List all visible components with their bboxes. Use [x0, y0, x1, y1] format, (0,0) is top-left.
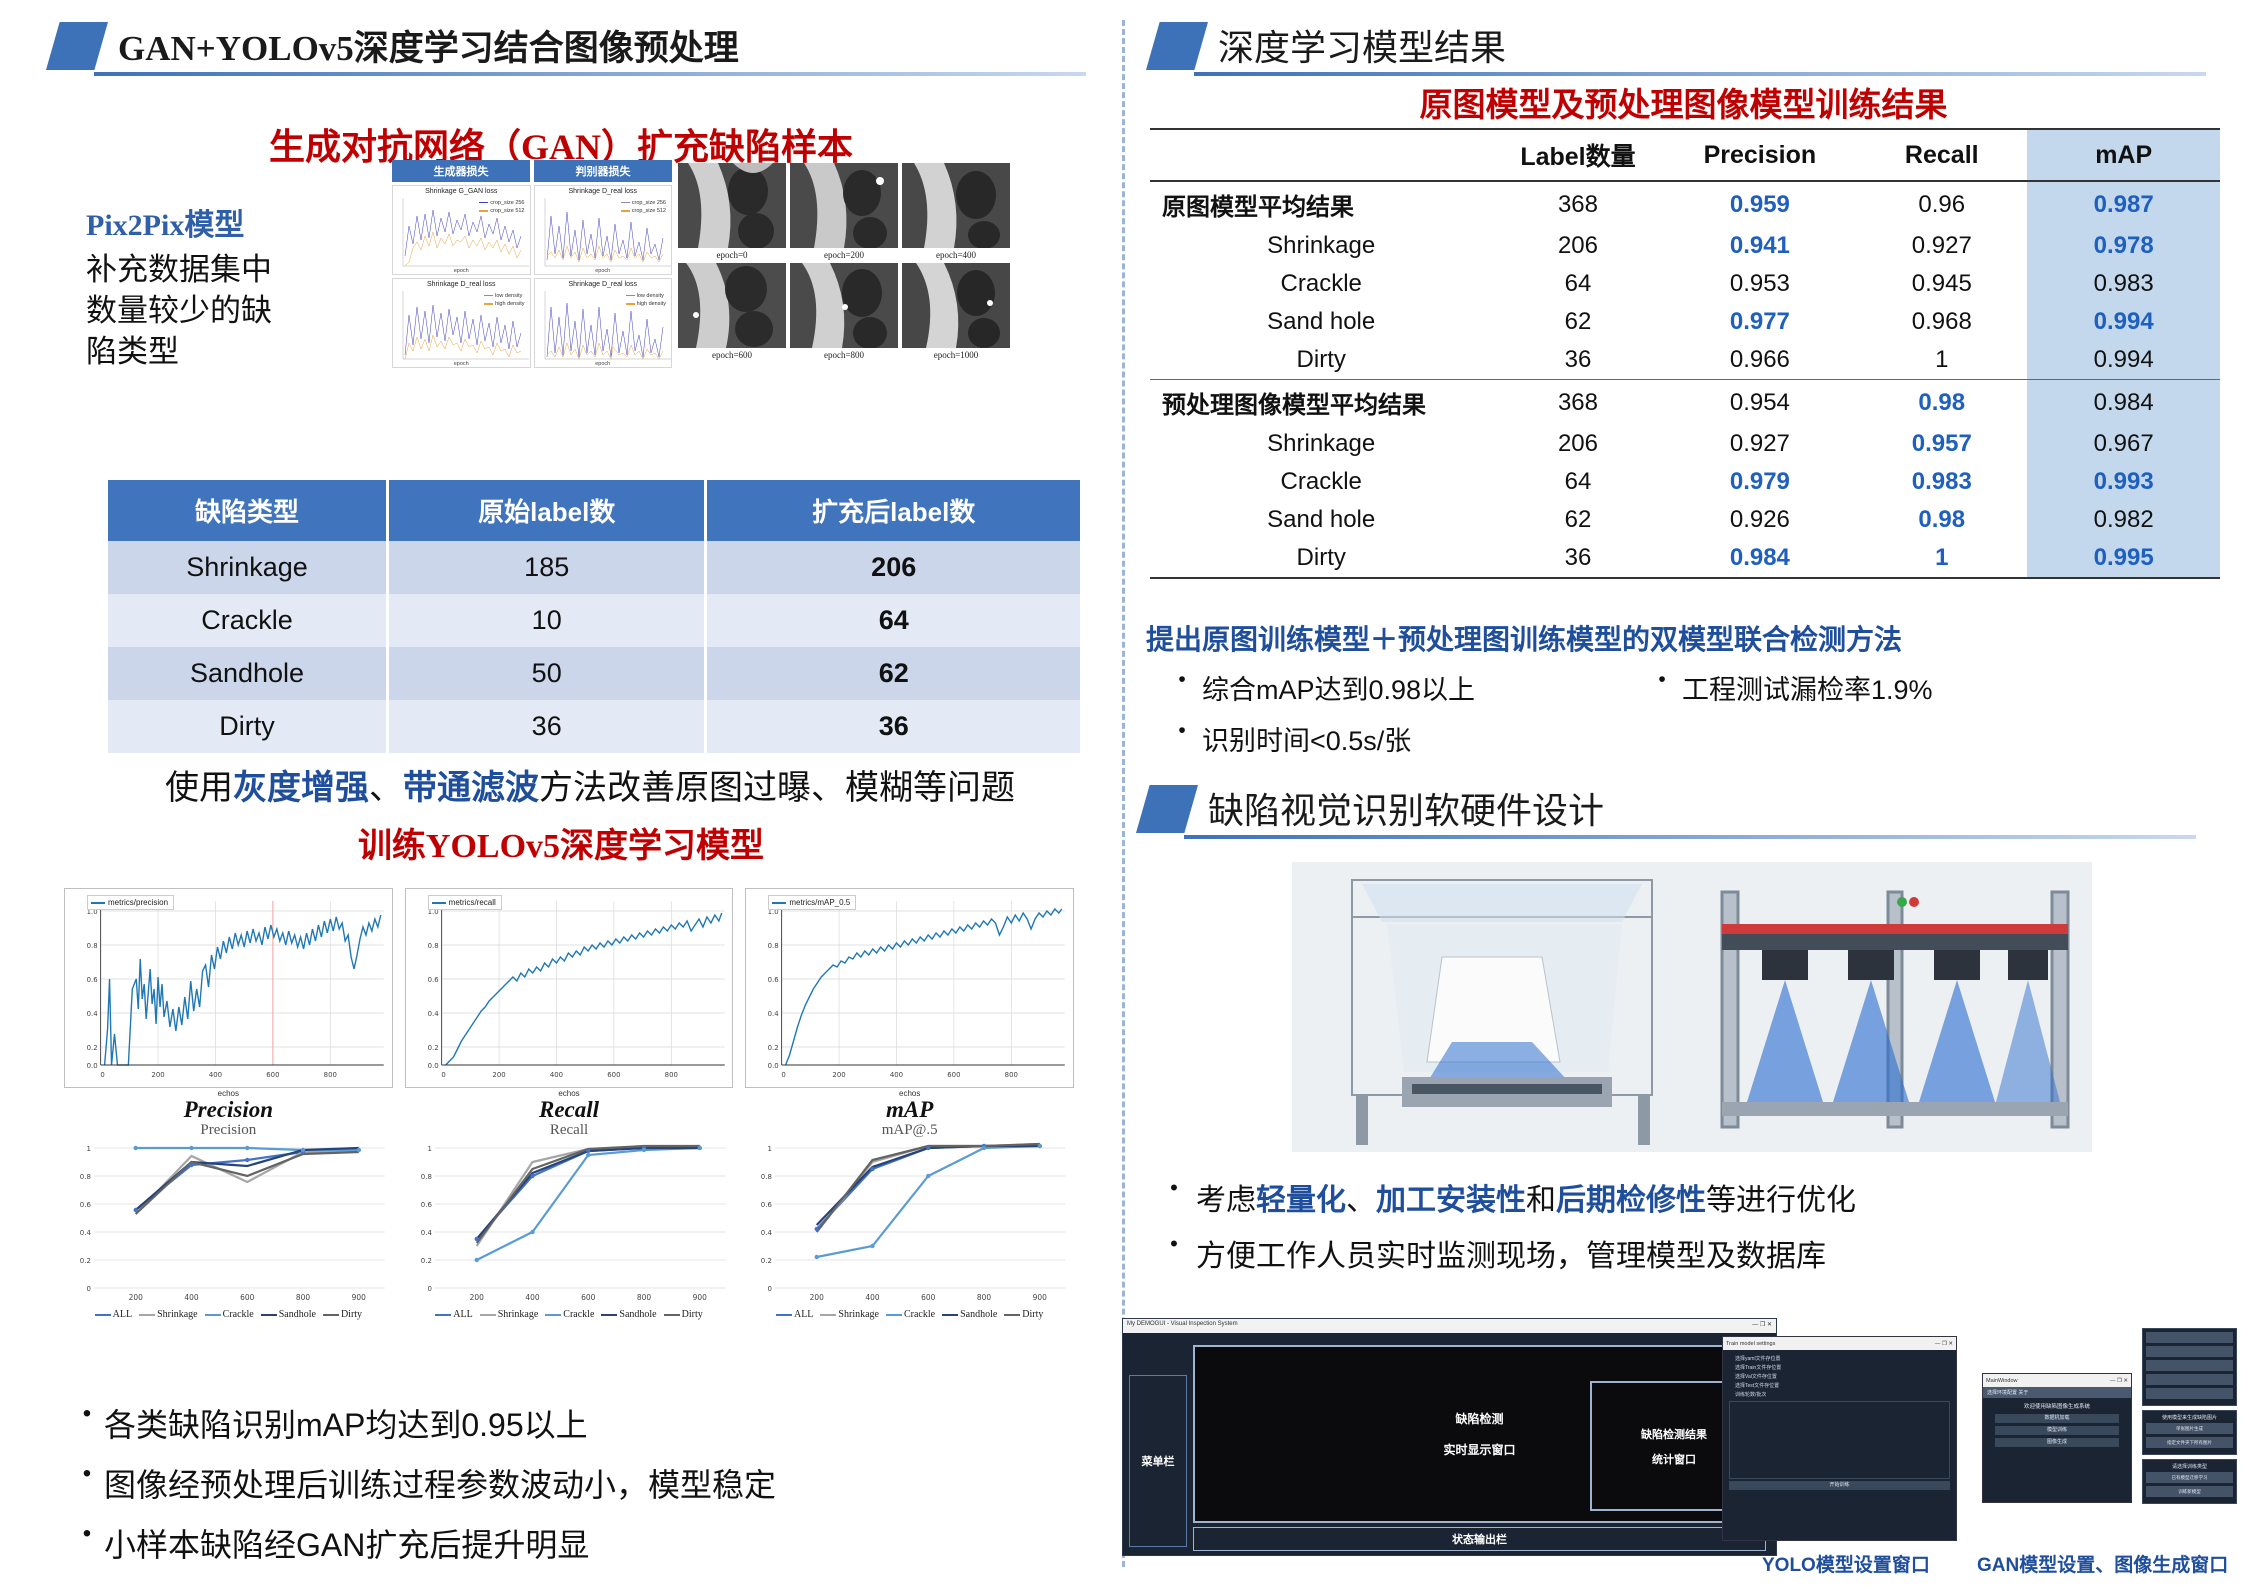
svg-text:600: 600: [948, 1071, 961, 1079]
svg-text:200: 200: [810, 1293, 824, 1302]
left-section-title: GAN+YOLOv5深度学习结合图像预处理: [118, 31, 739, 70]
cell-recall: 0.98: [1856, 380, 2027, 426]
epoch-cell: epoch=600: [678, 263, 786, 363]
pix2pix-title: Pix2Pix模型: [86, 200, 301, 244]
cell-defect-type: Crackle: [108, 594, 387, 647]
cell-model-label: Sand hole: [1150, 501, 1492, 539]
svg-text:0.4: 0.4: [761, 1229, 773, 1237]
svg-text:200: 200: [129, 1293, 143, 1302]
epoch-caption: epoch=200: [790, 248, 898, 263]
cell-map: 0.993: [2027, 463, 2220, 501]
right-section2-title: 缺陷视觉识别软硬件设计: [1208, 793, 1604, 833]
cell-count: 36: [1492, 341, 1663, 380]
svg-text:200: 200: [492, 1071, 505, 1079]
list-item: • 综合mAP达到0.98以上: [1162, 668, 1642, 707]
cell-expanded: 64: [706, 594, 1080, 647]
perclass-curve-row: 10.80.6 0.40.20 200400600 800900 ALL Shr…: [64, 1130, 1074, 1325]
svg-text:0.6: 0.6: [427, 976, 438, 984]
svg-text:400: 400: [525, 1293, 539, 1302]
yolo-row-label[interactable]: 选择Val文件存位置: [1729, 1372, 1950, 1381]
yolo-row-label[interactable]: 选择Train文件存位置: [1729, 1363, 1950, 1372]
svg-text:1: 1: [427, 1145, 431, 1153]
status-output-bar: 状态输出栏: [1193, 1527, 1766, 1551]
gan-train-type-card: 请选择训练类型 已有模型迁移学习 训练新模型: [2142, 1459, 2237, 1504]
bullet-row: • 识别时间<0.5s/张: [1162, 719, 2242, 758]
gan-generate-card: 使用模型来生成缺陷图片 单张图片生成 指定文件夹下所有图片: [2142, 1410, 2237, 1455]
mini-chart-plot: [535, 196, 673, 268]
start-training-button[interactable]: 开始训练: [1729, 1481, 1950, 1490]
gan-train-new-button[interactable]: 训练新模型: [2146, 1486, 2233, 1497]
cell-map: 0.982: [2027, 501, 2220, 539]
gan-mini-chart: Shrinkage G_GAN loss crop_size 256 crop_…: [392, 185, 531, 275]
cell-recall: 0.98: [1856, 501, 2027, 539]
table-row: Dirty 36 36: [108, 700, 1080, 753]
cell-precision: 0.927: [1664, 425, 1857, 463]
mini-chart-plot: [535, 289, 673, 361]
cell-precision: 0.979: [1664, 463, 1857, 501]
epoch-cell: epoch=1000: [902, 263, 1010, 363]
right-section2-header: 缺陷视觉识别软硬件设计: [1136, 785, 2196, 833]
svg-text:800: 800: [296, 1293, 310, 1302]
col-defect-type: 缺陷类型: [108, 480, 387, 541]
legend-shrinkage: Shrinkage: [139, 1309, 198, 1320]
defect-xray-image: [790, 263, 898, 348]
svg-text:400: 400: [866, 1293, 880, 1302]
window-controls[interactable]: — ❐ ✕: [2110, 1378, 2128, 1384]
bullet-dot-icon: •: [70, 1460, 104, 1488]
map-curve: 1.00.80.6 0.40.20.0 0200400 600800: [746, 889, 1073, 1088]
bullet-dot-icon: •: [1642, 668, 1682, 692]
cell-map: 0.994: [2027, 303, 2220, 341]
cell-model-label: 原图模型平均结果: [1150, 181, 1492, 227]
svg-text:0: 0: [100, 1071, 104, 1079]
method-bold-2: 带通滤波: [403, 769, 539, 807]
svg-text:0.2: 0.2: [768, 1044, 779, 1052]
cell-recall: 0.968: [1856, 303, 2027, 341]
svg-text:0.2: 0.2: [80, 1257, 91, 1265]
svg-text:0.6: 0.6: [87, 976, 98, 984]
svg-text:600: 600: [921, 1293, 935, 1302]
menubar-label: 菜单栏: [1142, 1453, 1175, 1469]
menubar-panel[interactable]: 菜单栏: [1129, 1375, 1187, 1547]
perclass-chart-precision: 10.80.6 0.40.20 200400600 800900 ALL Shr…: [64, 1130, 393, 1325]
svg-text:0: 0: [768, 1285, 772, 1293]
caption-yolo-window: YOLO模型设置窗口: [1762, 1550, 1930, 1577]
legend-dirty: Dirty: [664, 1309, 703, 1320]
svg-text:400: 400: [209, 1071, 222, 1079]
col-model: [1150, 129, 1492, 181]
bullet-dot-icon: •: [70, 1400, 104, 1428]
svg-text:0: 0: [427, 1285, 431, 1293]
cell-expanded: 36: [706, 700, 1080, 753]
epoch-cell: epoch=0: [678, 163, 786, 263]
svg-text:800: 800: [1005, 1071, 1018, 1079]
table-header-row: Label数量 Precision Recall mAP: [1150, 129, 2220, 181]
cell-map: 0.994: [2027, 341, 2220, 380]
perclass-legend: ALL Shrinkage Crackle Sandhole Dirty: [405, 1309, 734, 1320]
table-row: Dirty 36 0.966 1 0.994: [1150, 341, 2220, 380]
legend-crackle: Crackle: [205, 1309, 254, 1320]
gan-tab-row: 生成器损失 判别器损失: [392, 160, 672, 182]
software-screenshot-strip: My DEMOGUI - Visual Inspection System — …: [1122, 1318, 2245, 1586]
svg-text:0.8: 0.8: [761, 1173, 772, 1181]
hardware-illustration: [1292, 862, 2092, 1152]
window-title: MainWindow: [1986, 1378, 2017, 1384]
cell-precision: 0.984: [1664, 539, 1857, 578]
svg-text:400: 400: [890, 1071, 903, 1079]
chart-plot-area: metrics/mAP_0.5 1.00.8: [745, 888, 1074, 1088]
svg-text:900: 900: [692, 1293, 706, 1302]
cell-count: 206: [1492, 425, 1663, 463]
col-expanded-label: 扩充后label数: [706, 480, 1080, 541]
svg-text:0.2: 0.2: [761, 1257, 772, 1265]
svg-text:600: 600: [266, 1071, 279, 1079]
gan-option-button[interactable]: [2146, 1346, 2233, 1357]
cell-count: 36: [1492, 539, 1663, 578]
perclass-legend: ALL Shrinkage Crackle Sandhole Dirty: [64, 1309, 393, 1320]
window-titlebar: MainWindow — ❐ ✕: [1983, 1374, 2131, 1387]
col-original-label: 原始label数: [387, 480, 705, 541]
legend-shrinkage: Shrinkage: [820, 1309, 879, 1320]
cell-model-label: Shrinkage: [1150, 425, 1492, 463]
gan-button-load-data[interactable]: 数据机加载: [1995, 1414, 2119, 1423]
chart-legend: metrics/recall: [428, 895, 502, 910]
yolo-row-label[interactable]: 选择Test文件存位置: [1729, 1381, 1950, 1390]
legend-all: ALL: [776, 1309, 813, 1320]
cell-recall: 0.927: [1856, 227, 2027, 265]
cell-count: 368: [1492, 181, 1663, 227]
cell-model-label: Sand hole: [1150, 303, 1492, 341]
bullet-dot-icon: •: [1152, 1175, 1196, 1201]
chart-name: mAP: [745, 1098, 1074, 1122]
bullet-text: 方便工作人员实时监测现场，管理模型及数据库: [1196, 1231, 1826, 1275]
svg-text:400: 400: [550, 1071, 563, 1079]
header-rule: [1184, 835, 2196, 839]
mini-chart-title: Shrinkage G_GAN loss: [393, 186, 530, 195]
table-row: 原图模型平均结果 368 0.959 0.96 0.987: [1150, 181, 2220, 227]
metric-chart-row: metrics/precision: [64, 888, 1074, 1139]
cell-precision: 0.959: [1664, 181, 1857, 227]
table-row: Shrinkage 206 0.927 0.957 0.967: [1150, 425, 2220, 463]
mini-chart-plot: [393, 289, 531, 361]
list-item: • 方便工作人员实时监测现场，管理模型及数据库: [1152, 1231, 2242, 1275]
table-header-row: 缺陷类型 原始label数 扩充后label数: [108, 480, 1080, 541]
svg-text:400: 400: [184, 1293, 198, 1302]
svg-text:0.8: 0.8: [80, 1173, 91, 1181]
gan-menu-bar[interactable]: 选择环境配置 关于: [1983, 1387, 2131, 1398]
cell-precision: 0.941: [1664, 227, 1857, 265]
svg-text:800: 800: [637, 1293, 651, 1302]
cell-model-label: 预处理图像模型平均结果: [1150, 380, 1492, 426]
gan-option-button[interactable]: [2146, 1388, 2233, 1399]
svg-text:0.4: 0.4: [80, 1229, 92, 1237]
window-controls[interactable]: — ❐ ✕: [1935, 1341, 1953, 1347]
defect-count-table: 缺陷类型 原始label数 扩充后label数 Shrinkage 185 20…: [108, 480, 1080, 753]
mini-chart-xlabel: epoch: [393, 268, 530, 274]
bullet-text: 各类缺陷识别mAP均达到0.95以上: [104, 1400, 588, 1446]
window-controls[interactable]: — ❐ ✕: [1752, 1321, 1772, 1331]
metric-chart-map: metrics/mAP_0.5 1.00.8: [745, 888, 1074, 1139]
right-design-bullets: • 考虑轻量化、加工安装性和后期检修性等进行优化 • 方便工作人员实时监测现场，…: [1152, 1175, 2242, 1287]
svg-text:0: 0: [86, 1285, 90, 1293]
legend-sandhole: Sandhole: [601, 1309, 656, 1320]
pix2pix-body: 补充数据集中数量较少的缺陷类型: [86, 250, 301, 373]
gan-welcome-text: 欢迎使用缺陷图像生成系统: [1989, 1402, 2125, 1410]
cell-recall: 0.96: [1856, 181, 2027, 227]
svg-text:1: 1: [86, 1145, 90, 1153]
gan-generate-folder-button[interactable]: 指定文件夹下所有图片: [2146, 1437, 2233, 1448]
perclass-recall-plot: 10.80.6 0.40.20 200400600 800900: [405, 1130, 734, 1302]
left-section-header: GAN+YOLOv5深度学习结合图像预处理: [46, 22, 1086, 70]
cell-defect-type: Dirty: [108, 700, 387, 753]
chart-legend: metrics/mAP_0.5: [768, 895, 856, 910]
view-label-1: 缺陷检测: [1455, 1410, 1503, 1427]
gan-option-button[interactable]: [2146, 1360, 2233, 1371]
mini-chart-title: Shrinkage D_real loss: [535, 186, 672, 195]
svg-text:0: 0: [782, 1071, 786, 1079]
svg-text:0: 0: [441, 1071, 445, 1079]
svg-text:0.6: 0.6: [761, 1201, 772, 1209]
left-conclusions-list: •各类缺陷识别mAP均达到0.95以上 •图像经预处理后训练过程参数波动小，模型…: [70, 1400, 1090, 1580]
legend-shrinkage: Shrinkage: [480, 1309, 539, 1320]
header-rule: [94, 72, 1086, 76]
perclass-map-plot: 10.80.6 0.40.20 200400600 800900: [745, 1130, 1074, 1302]
chart-name: Precision: [64, 1098, 393, 1122]
bullet-dot-icon: •: [70, 1520, 104, 1548]
cell-original: 36: [387, 700, 705, 753]
bullet-text: 考虑轻量化、加工安装性和后期检修性等进行优化: [1196, 1175, 1856, 1219]
cell-map: 0.978: [2027, 227, 2220, 265]
gan-loss-charts: 生成器损失 判别器损失 Shrinkage G_GAN loss crop_si…: [392, 160, 672, 368]
table-row: Crackle 64 0.979 0.983 0.993: [1150, 463, 2220, 501]
perclass-chart-map: 10.80.6 0.40.20 200400600 800900 ALL Shr…: [745, 1130, 1074, 1325]
gan-chart-grid: Shrinkage G_GAN loss crop_size 256 crop_…: [392, 185, 672, 368]
svg-text:800: 800: [324, 1071, 337, 1079]
cell-recall: 0.945: [1856, 265, 2027, 303]
gan-option-button[interactable]: [2146, 1374, 2233, 1385]
method-text-3: 方法改善原图过曝、模糊等问题: [539, 769, 1015, 807]
yolo-row-label[interactable]: 选择yaml文件存位置: [1729, 1354, 1950, 1363]
cell-precision: 0.977: [1664, 303, 1857, 341]
defect-xray-image: [678, 263, 786, 348]
svg-text:0.2: 0.2: [420, 1257, 431, 1265]
yolo-training-heading: 训练YOLOv5深度学习模型: [0, 818, 1122, 867]
window-titlebar: Train model settings — ❐ ✕: [1723, 1337, 1956, 1350]
svg-text:0.2: 0.2: [427, 1044, 438, 1052]
gan-mini-chart: Shrinkage D_real loss low density high d…: [534, 278, 673, 368]
epoch-cell: epoch=800: [790, 263, 898, 363]
svg-text:200: 200: [469, 1293, 483, 1302]
cell-model-label: Dirty: [1150, 539, 1492, 578]
defect-xray-image: [790, 163, 898, 248]
chart-plot-area: metrics/precision: [64, 888, 393, 1088]
table-row: Dirty 36 0.984 1 0.995: [1150, 539, 2220, 578]
gan-mini-chart: Shrinkage D_real loss low density high d…: [392, 278, 531, 368]
caption-gan-window: GAN模型设置、图像生成窗口: [1977, 1550, 2228, 1577]
gan-mini-chart: Shrinkage D_real loss crop_size 256 crop…: [534, 185, 673, 275]
metric-chart-recall: metrics/recall 1.00.80: [405, 888, 734, 1139]
precision-curve: 1.00.80.6 0.40.20.0 0200400 600800: [65, 889, 392, 1088]
cell-recall: 1: [1856, 539, 2027, 578]
mini-chart-xlabel: epoch: [393, 361, 530, 367]
gan-button-train[interactable]: 模型训练: [1995, 1426, 2119, 1435]
stat-label-1: 缺陷检测结果: [1641, 1426, 1707, 1442]
svg-text:600: 600: [240, 1293, 254, 1302]
svg-text:900: 900: [1033, 1293, 1047, 1302]
legend-sandhole: Sandhole: [942, 1309, 997, 1320]
cell-precision: 0.966: [1664, 341, 1857, 380]
bullet-text: 图像经预处理后训练过程参数波动小，模型稳定: [104, 1460, 776, 1506]
list-item: •小样本缺陷经GAN扩充后提升明显: [70, 1520, 1090, 1566]
list-item: • 识别时间<0.5s/张: [1162, 719, 1411, 758]
window-title: My DEMOGUI - Visual Inspection System: [1127, 1321, 1238, 1331]
table-row: Crackle 64 0.953 0.945 0.983: [1150, 265, 2220, 303]
svg-text:0.2: 0.2: [87, 1044, 98, 1052]
metric-chart-precision: metrics/precision: [64, 888, 393, 1139]
cell-map: 0.967: [2027, 425, 2220, 463]
cell-count: 62: [1492, 501, 1663, 539]
svg-text:0.8: 0.8: [87, 942, 98, 950]
cell-expanded: 62: [706, 647, 1080, 700]
list-item: •图像经预处理后训练过程参数波动小，模型稳定: [70, 1460, 1090, 1506]
table-row: Sand hole 62 0.977 0.968 0.994: [1150, 303, 2220, 341]
cell-model-label: Shrinkage: [1150, 227, 1492, 265]
table-row: 预处理图像模型平均结果 368 0.954 0.98 0.984: [1150, 380, 2220, 426]
svg-text:900: 900: [352, 1293, 366, 1302]
right-section-header: 深度学习模型结果: [1146, 22, 2206, 70]
header-rule: [1194, 72, 2206, 76]
bullet-row: • 综合mAP达到0.98以上 • 工程测试漏检率1.9%: [1162, 668, 2242, 707]
cell-defect-type: Shrinkage: [108, 541, 387, 594]
chart-legend: metrics/precision: [87, 895, 174, 910]
table-row: Sandhole 50 62: [108, 647, 1080, 700]
mini-chart-plot: [393, 196, 531, 268]
gan-mainwindow: MainWindow — ❐ ✕ 选择环境配置 关于 欢迎使用缺陷图像生成系统 …: [1982, 1373, 2132, 1503]
right-bullets-block: • 综合mAP达到0.98以上 • 工程测试漏检率1.9% • 识别时间<0.5…: [1162, 668, 2242, 770]
yolo-field-label: 训练轮数/批次: [1729, 1390, 1950, 1399]
col-label-count: Label数量: [1492, 129, 1663, 181]
epoch-cell: epoch=200: [790, 163, 898, 263]
svg-text:600: 600: [607, 1071, 620, 1079]
cell-expanded: 206: [706, 541, 1080, 594]
epoch-row: epoch=600 epoch=800 epoch=1000: [678, 263, 1018, 363]
svg-text:800: 800: [664, 1071, 677, 1079]
bullet-text: 综合mAP达到0.98以上: [1202, 668, 1475, 707]
epoch-row: epoch=0 epoch=200 epoch=400: [678, 163, 1018, 263]
svg-text:0.0: 0.0: [427, 1062, 438, 1070]
legend-crackle: Crackle: [886, 1309, 935, 1320]
svg-text:600: 600: [581, 1293, 595, 1302]
method-bold-1: 灰度增强: [233, 769, 369, 807]
cell-defect-type: Sandhole: [108, 647, 387, 700]
epoch-caption: epoch=600: [678, 348, 786, 363]
dual-model-conclusion: 提出原图训练模型＋预处理图训练模型的双模型联合检测方法: [1146, 618, 2236, 658]
mini-chart-title: Shrinkage D_real loss: [393, 279, 530, 288]
cell-precision: 0.953: [1664, 265, 1857, 303]
gan-tab-generator: 生成器损失: [392, 160, 530, 182]
cell-original: 10: [387, 594, 705, 647]
svg-text:0.4: 0.4: [87, 1010, 99, 1018]
svg-text:0.6: 0.6: [420, 1201, 431, 1209]
list-item: • 工程测试漏检率1.9%: [1642, 668, 1933, 707]
legend-sandhole: Sandhole: [261, 1309, 316, 1320]
window-body: 菜单栏 缺陷检测 实时显示窗口 缺陷检测结果 统计窗口 状态输出栏: [1123, 1333, 1776, 1557]
cell-map: 0.984: [2027, 380, 2220, 426]
gan-button-generate[interactable]: 图像生成: [1995, 1438, 2119, 1447]
gan-option-panels: 使用模型来生成缺陷图片 单张图片生成 指定文件夹下所有图片 请选择训练类型 已有…: [2142, 1328, 2237, 1513]
svg-text:0.8: 0.8: [420, 1173, 431, 1181]
results-table-heading: 原图模型及预处理图像模型训练结果: [1122, 78, 2245, 126]
status-label: 状态输出栏: [1452, 1531, 1507, 1547]
chevron-banner-icon: [1136, 785, 1198, 833]
list-item: •各类缺陷识别mAP均达到0.95以上: [70, 1400, 1090, 1446]
recall-curve: 1.00.80.6 0.40.20.0 0200400 600800: [406, 889, 733, 1088]
gan-generate-single-button[interactable]: 单张图片生成: [2146, 1423, 2233, 1434]
chevron-banner-icon: [46, 22, 108, 70]
col-map: mAP: [2027, 129, 2220, 181]
chart-name: Recall: [405, 1098, 734, 1122]
svg-text:0.0: 0.0: [87, 1062, 98, 1070]
cell-count: 62: [1492, 303, 1663, 341]
cell-count: 206: [1492, 227, 1663, 265]
svg-text:0.6: 0.6: [80, 1201, 91, 1209]
cell-model-label: Crackle: [1150, 265, 1492, 303]
cell-recall: 1: [1856, 341, 2027, 380]
col-recall: Recall: [1856, 129, 2027, 181]
cell-count: 368: [1492, 380, 1663, 426]
model-results-table: Label数量 Precision Recall mAP 原图模型平均结果 36…: [1150, 128, 2220, 579]
svg-text:200: 200: [151, 1071, 164, 1079]
table-row: Sand hole 62 0.926 0.98 0.982: [1150, 501, 2220, 539]
right-column: 深度学习模型结果 原图模型及预处理图像模型训练结果 Label数量 Precis…: [1122, 0, 2245, 1587]
cell-map: 0.995: [2027, 539, 2220, 578]
mini-chart-xlabel: epoch: [535, 361, 672, 367]
perclass-chart-recall: 10.80.6 0.40.20 200400600 800900 ALL Shr…: [405, 1130, 734, 1325]
bullet-text: 小样本缺陷经GAN扩充后提升明显: [104, 1520, 589, 1566]
table-row: Shrinkage 206 0.941 0.927 0.978: [1150, 227, 2220, 265]
legend-all: ALL: [435, 1309, 472, 1320]
cell-precision: 0.954: [1664, 380, 1857, 426]
view-label-2: 实时显示窗口: [1443, 1441, 1515, 1458]
gan-option-button[interactable]: [2146, 1332, 2233, 1343]
col-precision: Precision: [1664, 129, 1857, 181]
chart-plot-area: metrics/recall 1.00.80: [405, 888, 734, 1088]
table-row: Crackle 10 64: [108, 594, 1080, 647]
legend-dirty: Dirty: [1004, 1309, 1043, 1320]
svg-text:0.8: 0.8: [427, 942, 438, 950]
gan-options-card: [2142, 1328, 2237, 1406]
gan-tab-discriminator: 判别器损失: [534, 160, 672, 182]
epoch-caption: epoch=800: [790, 348, 898, 363]
cell-model-label: Crackle: [1150, 463, 1492, 501]
chevron-banner-icon: [1146, 22, 1208, 70]
cell-model-label: Dirty: [1150, 341, 1492, 380]
inspection-system-window: My DEMOGUI - Visual Inspection System — …: [1122, 1318, 1777, 1556]
gan-transfer-learning-button[interactable]: 已有模型迁移学习: [2146, 1472, 2233, 1483]
svg-text:0.6: 0.6: [768, 976, 779, 984]
method-text-1: 使用: [165, 769, 233, 807]
yolo-settings-body: 选择yaml文件存位置 选择Train文件存位置 选择Val文件存位置 选择Te…: [1723, 1350, 1956, 1496]
stat-label-2: 统计窗口: [1652, 1451, 1696, 1467]
yolo-settings-window: Train model settings — ❐ ✕ 选择yaml文件存位置 选…: [1722, 1336, 1957, 1541]
defect-xray-image: [678, 163, 786, 248]
epoch-caption: epoch=0: [678, 248, 786, 263]
svg-text:0.4: 0.4: [420, 1229, 432, 1237]
pix2pix-block: Pix2Pix模型 补充数据集中数量较少的缺陷类型: [86, 200, 301, 373]
mini-chart-title: Shrinkage D_real loss: [535, 279, 672, 288]
window-titlebar: My DEMOGUI - Visual Inspection System — …: [1123, 1319, 1776, 1333]
preprocess-method-line: 使用灰度增强、带通滤波方法改善原图过曝、模糊等问题: [90, 760, 1090, 809]
